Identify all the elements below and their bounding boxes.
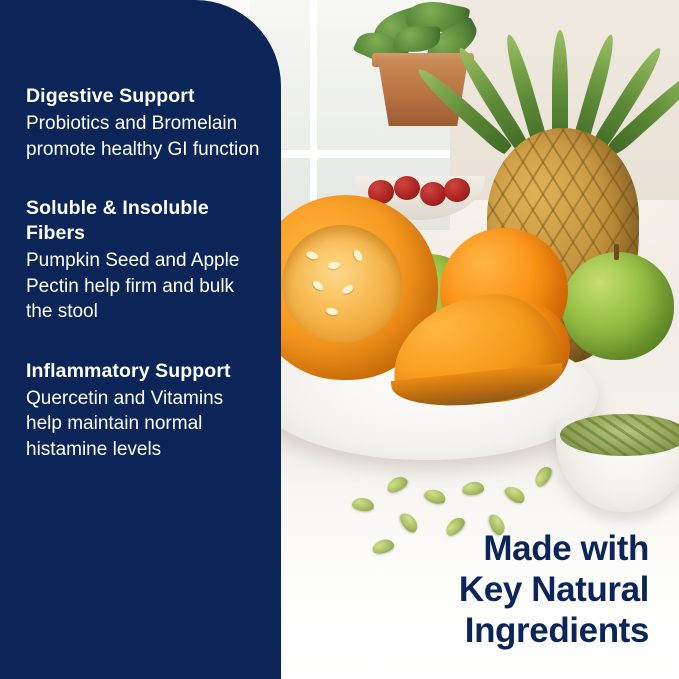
berry [394, 176, 420, 200]
feature-title: Inflammatory Support [26, 359, 262, 384]
feature-block-digestive-support: Digestive Support Probiotics and Bromela… [26, 84, 262, 162]
pumpkin-cavity [282, 225, 402, 343]
feature-body: Quercetin and Vitamins help maintain nor… [26, 386, 262, 463]
feature-title: Digestive Support [26, 84, 262, 109]
headline-line-1: Made with [319, 528, 649, 569]
marketing-image: Digestive Support Probiotics and Bromela… [0, 0, 679, 679]
seed-bowl-contents [560, 414, 679, 456]
headline-line-3: Ingredients [319, 610, 649, 651]
feature-body: Pumpkin Seed and Apple Pectin help firm … [26, 248, 262, 325]
feature-body: Probiotics and Bromelain promote healthy… [26, 111, 262, 162]
feature-list: Digestive Support Probiotics and Bromela… [26, 84, 262, 462]
feature-title: Soluble & Insoluble Fibers [26, 196, 262, 246]
berry [420, 182, 446, 206]
headline: Made with Key Natural Ingredients [319, 528, 649, 651]
feature-panel: Digestive Support Probiotics and Bromela… [0, 0, 281, 679]
green-apple [562, 252, 674, 360]
apple-stem [614, 244, 619, 260]
berry [444, 178, 470, 202]
feature-block-fibers: Soluble & Insoluble Fibers Pumpkin Seed … [26, 196, 262, 325]
headline-line-2: Key Natural [319, 569, 649, 610]
feature-block-inflammatory-support: Inflammatory Support Quercetin and Vitam… [26, 359, 262, 463]
